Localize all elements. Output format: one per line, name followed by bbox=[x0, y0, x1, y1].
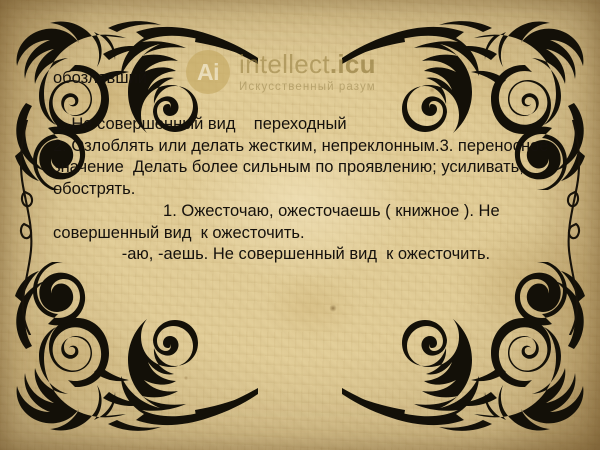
dictionary-article: обозлявший 1. Не совершенный вид переход… bbox=[53, 68, 553, 266]
parchment-page: Ai intellect.icu Искусственный разум обо… bbox=[0, 0, 600, 450]
headword: обозлявший bbox=[53, 68, 553, 90]
inflection-forms: -аю, -аешь. Не совершенный вид к ожесточ… bbox=[53, 244, 553, 266]
corner-flourish-icon bbox=[8, 262, 258, 442]
edge-rule-right bbox=[560, 120, 586, 335]
edge-rule-left bbox=[14, 120, 40, 335]
conjugation-note: 1. Ожесточаю, ожесточаешь ( книжное ). Н… bbox=[53, 201, 553, 245]
corner-flourish-icon bbox=[342, 262, 592, 442]
sense-definitions: 1. Не совершенный вид переходный 2. Озло… bbox=[53, 114, 553, 201]
